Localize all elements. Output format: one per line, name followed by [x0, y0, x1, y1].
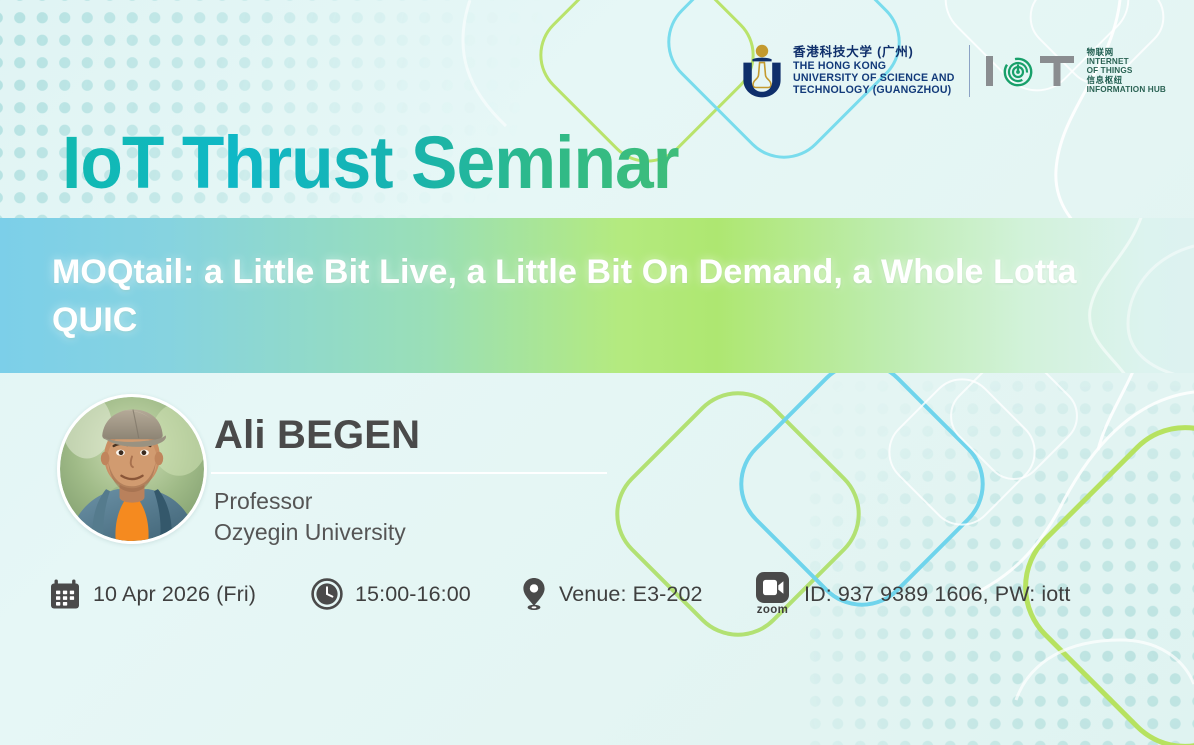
zoom-camera-icon [754, 571, 791, 604]
hkust-name-line2: UNIVERSITY OF SCIENCE AND [793, 72, 955, 84]
event-time-text: 15:00-16:00 [355, 582, 471, 607]
speaker-affiliation: Professor Ozyegin University [214, 486, 406, 547]
event-venue-text: Venue: E3-202 [559, 582, 703, 607]
event-venue: Venue: E3-202 [520, 566, 703, 622]
speaker-university: Ozyegin University [214, 517, 406, 548]
seminar-title: MOQtail: a Little Bit Live, a Little Bit… [52, 248, 1142, 345]
location-pin-icon [520, 576, 548, 612]
halftone-dots-bottom-right [804, 375, 1194, 745]
hkust-gz-logo: 香港科技大学 (广州) THE HONG KONG UNIVERSITY OF … [740, 44, 955, 98]
hkust-emblem-icon [740, 44, 784, 98]
hkust-name-cn: 香港科技大学 (广州) [793, 45, 955, 60]
event-zoom-text: ID: 937 9389 1606, PW: iott [804, 582, 1070, 607]
iot-hub-logo: 物联网 INTERNET OF THINGS 信息枢纽 INFORMATION … [984, 48, 1166, 94]
avatar [57, 394, 207, 544]
seminar-poster: 香港科技大学 (广州) THE HONG KONG UNIVERSITY OF … [0, 0, 1194, 745]
speaker-title: Professor [214, 486, 406, 517]
calendar-icon [48, 577, 82, 611]
hkust-name-line1: THE HONG KONG [793, 60, 955, 72]
hkust-logo-text: 香港科技大学 (广州) THE HONG KONG UNIVERSITY OF … [793, 45, 955, 96]
speaker-name: Ali BEGEN [214, 415, 420, 455]
event-date-text: 10 Apr 2026 (Fri) [93, 582, 256, 607]
decorative-diamond-white-bottom-1 [874, 364, 1049, 539]
iot-hub-cn-2: 信息枢纽 [1087, 76, 1166, 85]
iot-hub-text: 物联网 INTERNET OF THINGS 信息枢纽 INFORMATION … [1087, 48, 1166, 94]
logo-group: 香港科技大学 (广州) THE HONG KONG UNIVERSITY OF … [740, 44, 1166, 98]
logo-divider [969, 45, 970, 97]
hkust-name-line3: TECHNOLOGY (GUANGZHOU) [793, 84, 955, 96]
zoom-logo: zoom [754, 571, 791, 617]
speaker-divider [211, 472, 607, 474]
iot-hub-en-1: INTERNET [1087, 57, 1166, 66]
iot-target-icon [984, 51, 1080, 91]
clock-icon [310, 577, 344, 611]
iot-hub-cn-1: 物联网 [1087, 48, 1166, 57]
event-date: 10 Apr 2026 (Fri) [48, 566, 256, 622]
iot-hub-en-3: INFORMATION HUB [1087, 85, 1166, 94]
event-time: 15:00-16:00 [310, 566, 471, 622]
page-title: IoT Thrust Seminar [62, 126, 679, 200]
zoom-brand-text: zoom [757, 605, 789, 617]
event-zoom: zoom ID: 937 9389 1606, PW: iott [754, 566, 1070, 622]
speaker-portrait [60, 397, 204, 541]
